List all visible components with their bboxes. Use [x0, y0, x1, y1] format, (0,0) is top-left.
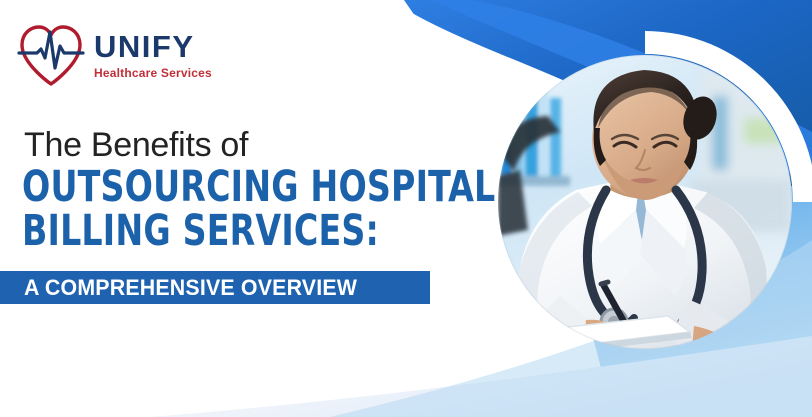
heart-ecg-icon [14, 20, 88, 90]
headline-block: The Benefits of OUTSOURCING HOSPITAL BIL… [0, 126, 470, 254]
subhead-text: A COMPREHENSIVE OVERVIEW [24, 275, 357, 301]
hero-banner: UNIFY Healthcare Services The Benefits o… [0, 0, 812, 417]
logo-name: UNIFY [94, 31, 212, 62]
headline-eyebrow: The Benefits of [24, 126, 470, 164]
subhead-bar: A COMPREHENSIVE OVERVIEW [0, 271, 430, 304]
headline-line-1: OUTSOURCING HOSPITAL [22, 166, 407, 209]
unify-logo[interactable]: UNIFY Healthcare Services [14, 16, 212, 94]
headline-line-2: BILLING SERVICES: [22, 210, 407, 253]
logo-wordmark: UNIFY Healthcare Services [94, 31, 212, 79]
logo-tagline: Healthcare Services [94, 67, 212, 79]
